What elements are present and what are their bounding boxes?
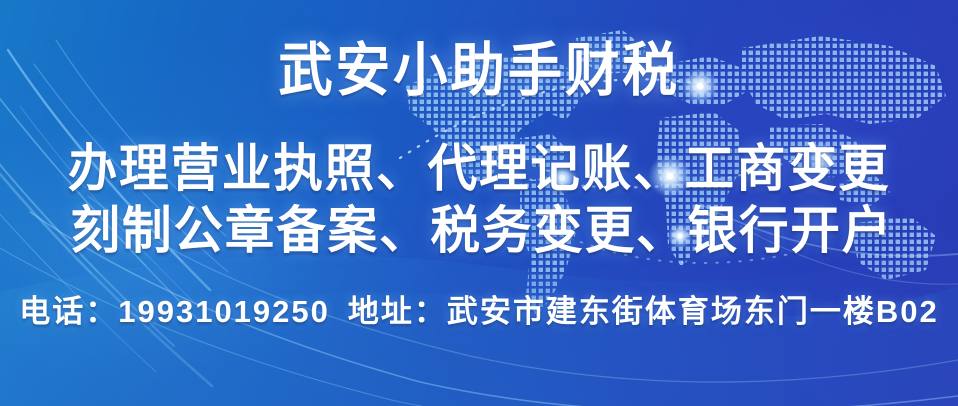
address-label: 地址： bbox=[348, 294, 447, 329]
service-line-1: 办理营业执照、代理记账、工商变更 bbox=[14, 138, 943, 200]
phone-label: 电话： bbox=[19, 294, 118, 329]
service-line-2: 刻制公章备案、税务变更、银行开户 bbox=[14, 200, 943, 262]
address-value: 武安市建东街体育场东门一楼B02 bbox=[447, 294, 939, 329]
company-title: 武安小助手财税 bbox=[29, 38, 930, 104]
advertisement-banner: 武安小助手财税 办理营业执照、代理记账、工商变更 刻制公章备案、税务变更、银行开… bbox=[0, 0, 958, 406]
phone-number: 19931019250 bbox=[118, 294, 330, 329]
banner-content: 武安小助手财税 办理营业执照、代理记账、工商变更 刻制公章备案、税务变更、银行开… bbox=[0, 0, 958, 406]
contact-info: 电话：19931019250地址：武安市建东街体育场东门一楼B02 bbox=[0, 292, 958, 332]
service-list: 办理营业执照、代理记账、工商变更 刻制公章备案、税务变更、银行开户 bbox=[0, 138, 958, 262]
